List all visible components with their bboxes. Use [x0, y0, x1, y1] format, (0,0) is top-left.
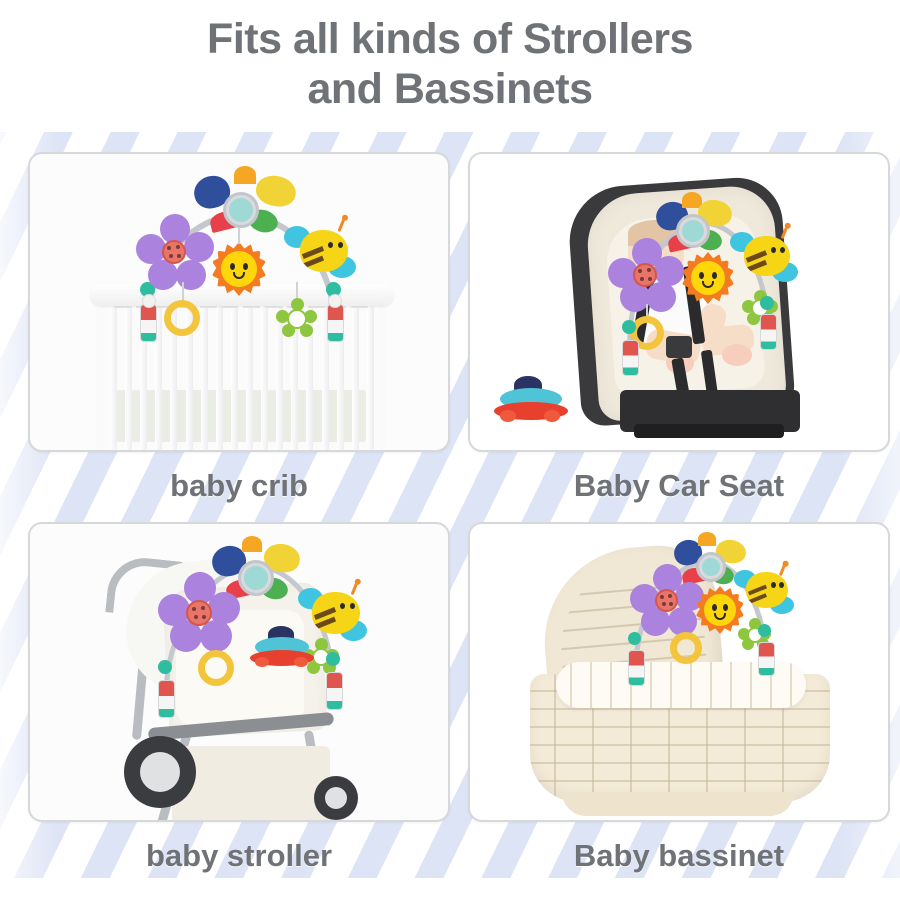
arch-bead-left [628, 632, 641, 645]
toy-ladybug [162, 240, 186, 264]
bee-antenna [337, 218, 345, 232]
page-title-line-2: and Bassinets [0, 64, 900, 114]
scene-bassinet [470, 524, 888, 820]
arch-clip-right [758, 642, 775, 676]
arch-bead-left-2 [142, 294, 156, 308]
ufo-wheel-right [294, 657, 308, 667]
arch-bead-right [760, 296, 774, 310]
arch-bead-right-2 [328, 294, 342, 308]
ufo-wheel-left [500, 410, 516, 422]
bee-body [744, 236, 790, 276]
scene-crib [30, 154, 448, 450]
toy-fabric-bow-orange [698, 532, 716, 546]
ufo-wheel-right [544, 410, 560, 422]
bee-body [312, 592, 360, 634]
page-title-line-1: Fits all kinds of Strollers [207, 15, 693, 63]
arch-clip-left [622, 340, 639, 376]
toy-purple-flower [158, 572, 242, 656]
toy-bee [728, 224, 804, 292]
toy-bee [732, 562, 800, 622]
panel-image-baby-stroller [28, 522, 450, 822]
arch-clip-right [326, 672, 343, 710]
panel-caption-baby-bassinet: Baby bassinet [468, 826, 890, 886]
arch-bead-left [158, 660, 172, 674]
toy-ring-rattle [164, 300, 200, 336]
toy-ufo-spinner [494, 376, 570, 424]
toy-arch-bassinet [470, 524, 888, 820]
toy-ring-rattle [670, 632, 702, 664]
toy-purple-flower [136, 214, 216, 294]
panel-image-baby-crib [28, 152, 450, 452]
panel-caption-baby-crib: baby crib [28, 456, 450, 516]
bee-body [300, 230, 348, 272]
sunflower-string [238, 228, 240, 244]
arch-clip-left [140, 304, 157, 342]
panel-grid: baby crib [28, 152, 890, 822]
toy-fabric-bow-orange [234, 166, 256, 184]
arch-bead-left [622, 320, 636, 334]
toy-arch-crib [30, 154, 448, 450]
panel-image-baby-bassinet [468, 522, 890, 822]
toy-ufo-spinner [250, 626, 316, 668]
bee-body [746, 572, 788, 608]
toy-sunflower [212, 242, 266, 296]
toy-fabric-bow-orange [242, 536, 262, 552]
panel-baby-bassinet: Baby bassinet [468, 522, 890, 822]
arch-clip-left [158, 680, 175, 718]
toy-arch-stroller [30, 524, 448, 820]
bee-antenna [781, 226, 789, 239]
bee-antenna [351, 582, 359, 595]
ufo-wheel-left [255, 657, 269, 667]
arch-bead-right [326, 652, 340, 666]
toy-purple-flower [630, 564, 706, 640]
page-title: Fits all kinds of Strollers and Bassinet… [0, 0, 900, 114]
toy-mirror [223, 192, 259, 228]
panel-baby-car-seat: Baby Car Seat [468, 152, 890, 452]
scene-car-seat [470, 154, 888, 450]
arch-clip-right [327, 304, 344, 342]
panel-caption-baby-car-seat: Baby Car Seat [468, 456, 890, 516]
toy-bee [282, 216, 362, 288]
infographic-page: Fits all kinds of Strollers and Bassinet… [0, 0, 900, 900]
toy-ladybug [633, 263, 657, 287]
toy-ring-rattle [198, 650, 234, 686]
panel-baby-crib: baby crib [28, 152, 450, 452]
toy-mirror [238, 560, 274, 596]
toy-sunflower [682, 252, 734, 304]
panel-image-baby-car-seat [468, 152, 890, 452]
panel-caption-baby-stroller: baby stroller [28, 826, 450, 886]
arch-bead-right [758, 624, 771, 637]
ring-string [182, 282, 184, 302]
arch-clip-right [760, 314, 777, 350]
toy-green-flower-teether [276, 298, 318, 340]
panel-baby-stroller: baby stroller [28, 522, 450, 822]
scene-stroller [30, 524, 448, 820]
toy-ladybug [186, 600, 212, 626]
arch-clip-left [628, 650, 645, 686]
bee-antenna [779, 564, 786, 576]
toy-ladybug [655, 589, 678, 612]
